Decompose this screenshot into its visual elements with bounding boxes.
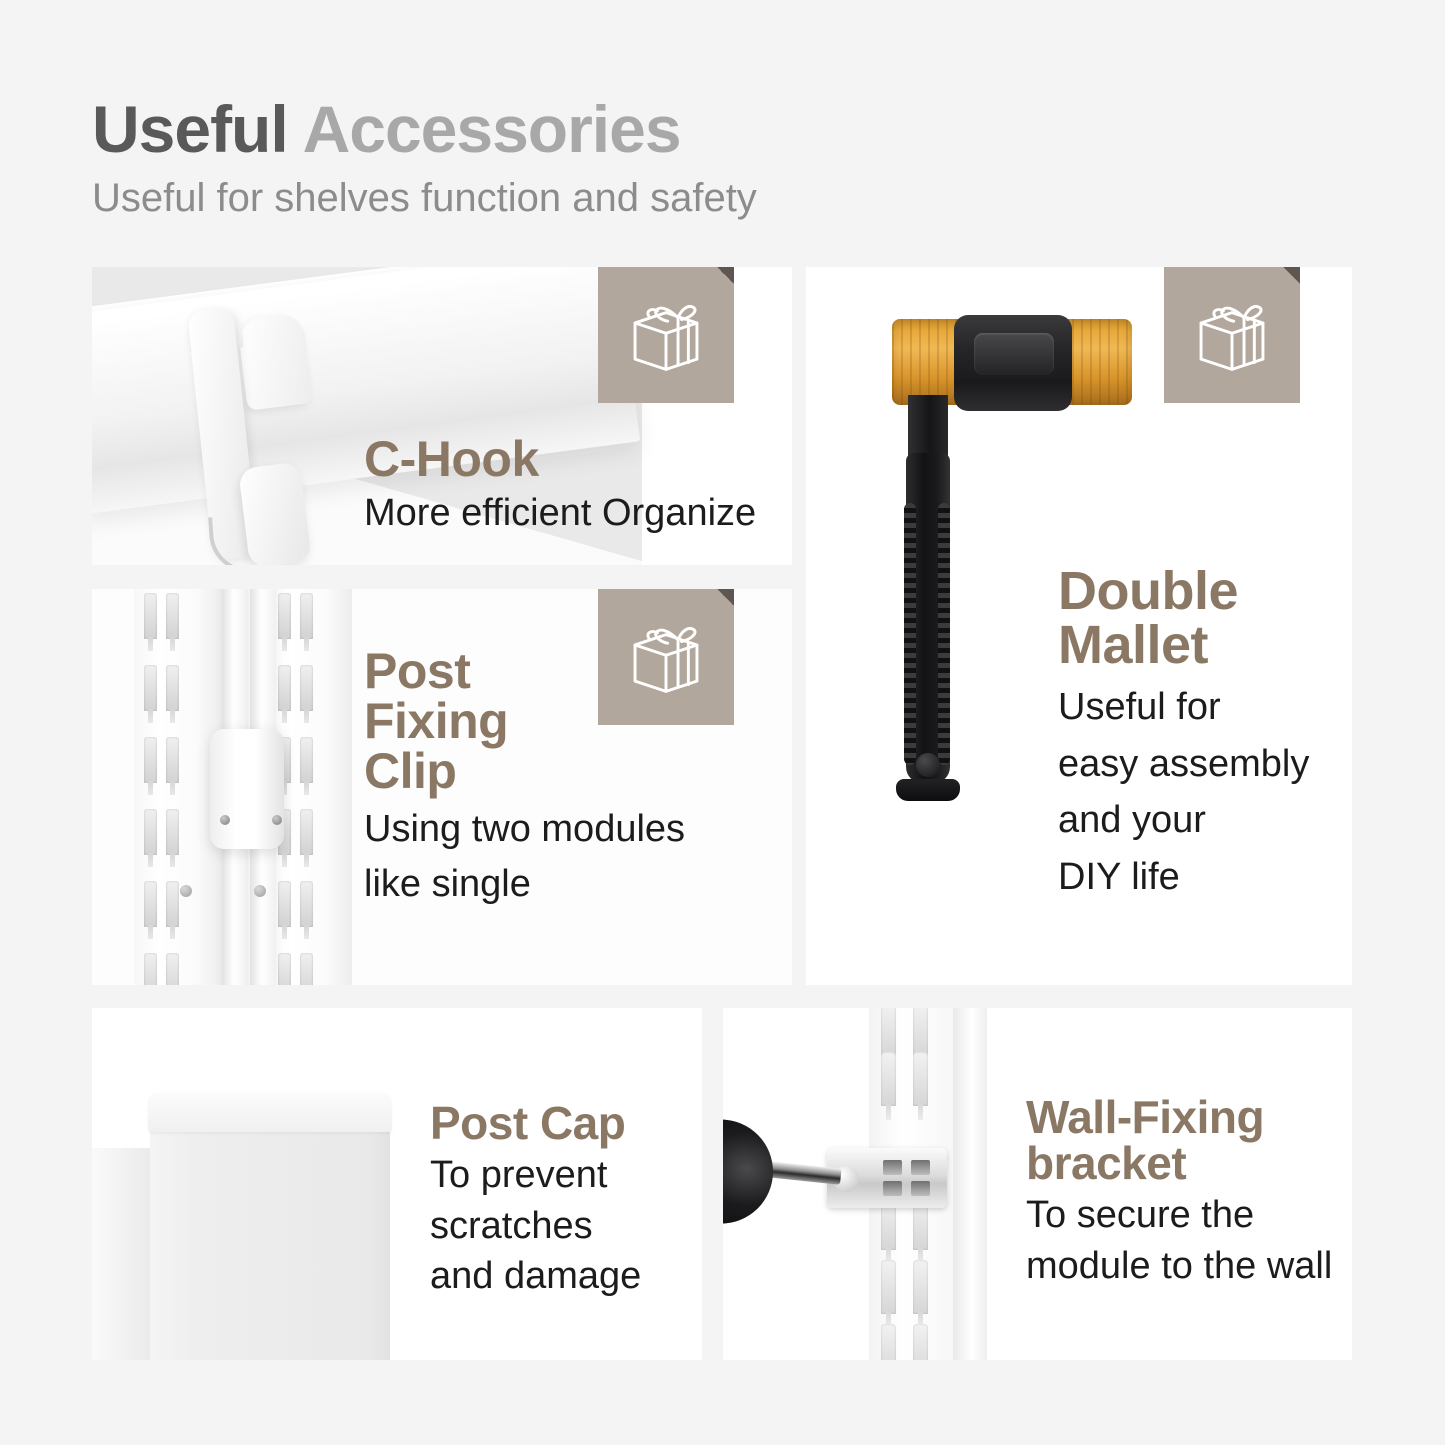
card-post-fixing-clip: Post Fixing Clip Using two modules like …: [92, 589, 792, 985]
post-fixing-clip-heading-line-1: Post: [364, 646, 685, 696]
post-cap-text-block: Post Cap To prevent scratches and damage: [430, 1100, 641, 1298]
page-title-part-1: Useful: [92, 92, 303, 166]
post-fixing-clip-text-block: Post Fixing Clip Using two modules like …: [364, 646, 685, 905]
page-title: Useful Accessories: [92, 96, 757, 162]
post-fixing-clip-heading-line-3: Clip: [364, 746, 685, 796]
page-subtitle: Useful for shelves function and safety: [92, 176, 757, 220]
double-mallet-description-line-2: easy assembly: [1058, 743, 1309, 786]
page-header: Useful Accessories Useful for shelves fu…: [92, 96, 757, 220]
wall-fixing-bracket-text-block: Wall-Fixing bracket To secure the module…: [1026, 1094, 1332, 1287]
card-c-hook: C-Hook More efficient Organize: [92, 267, 792, 565]
c-hook-text-block: C-Hook More efficient Organize: [364, 434, 756, 535]
double-mallet-text-block: Double Mallet Useful for easy assembly a…: [1058, 564, 1309, 898]
gift-badge: [1164, 267, 1300, 403]
gift-badge: [598, 267, 734, 403]
wall-fixing-bracket-description-line-1: To secure the: [1026, 1194, 1332, 1237]
post-cap-description-line-2: scratches: [430, 1205, 641, 1248]
post-fixing-clip-heading-line-2: Fixing: [364, 696, 685, 746]
infographic-page: Useful Accessories Useful for shelves fu…: [0, 0, 1445, 1445]
post-cap-description-line-3: and damage: [430, 1255, 641, 1298]
post-cap-description-line-1: To prevent: [430, 1154, 641, 1197]
wall-fixing-bracket-description-line-2: module to the wall: [1026, 1245, 1332, 1288]
post-fixing-clip-description-line-2: like single: [364, 863, 685, 906]
wall-fixing-bracket-heading-line-1: Wall-Fixing: [1026, 1094, 1332, 1140]
gift-box-icon: [1189, 292, 1275, 378]
double-mallet-description-line-3: and your: [1058, 799, 1309, 842]
page-title-part-2: Accessories: [303, 92, 681, 166]
post-cap-heading: Post Cap: [430, 1100, 641, 1146]
card-wall-fixing-bracket: Wall-Fixing bracket To secure the module…: [723, 1008, 1352, 1360]
badge-folded-corner: [1283, 267, 1300, 284]
double-mallet-heading-line-2: Mallet: [1058, 618, 1309, 672]
double-mallet-description-line-1: Useful for: [1058, 686, 1309, 729]
badge-folded-corner: [717, 589, 734, 606]
post-fixing-clip-description-line-1: Using two modules: [364, 808, 685, 851]
c-hook-description-line-1: More efficient Organize: [364, 492, 756, 535]
c-hook-heading: C-Hook: [364, 434, 756, 484]
double-mallet-description-line-4: DIY life: [1058, 856, 1309, 899]
card-double-mallet: Double Mallet Useful for easy assembly a…: [806, 267, 1352, 985]
wall-fixing-bracket-heading-line-2: bracket: [1026, 1140, 1332, 1186]
double-mallet-heading-line-1: Double: [1058, 564, 1309, 618]
gift-box-icon: [623, 292, 709, 378]
badge-folded-corner: [717, 267, 734, 284]
card-post-cap: Post Cap To prevent scratches and damage: [92, 1008, 702, 1360]
